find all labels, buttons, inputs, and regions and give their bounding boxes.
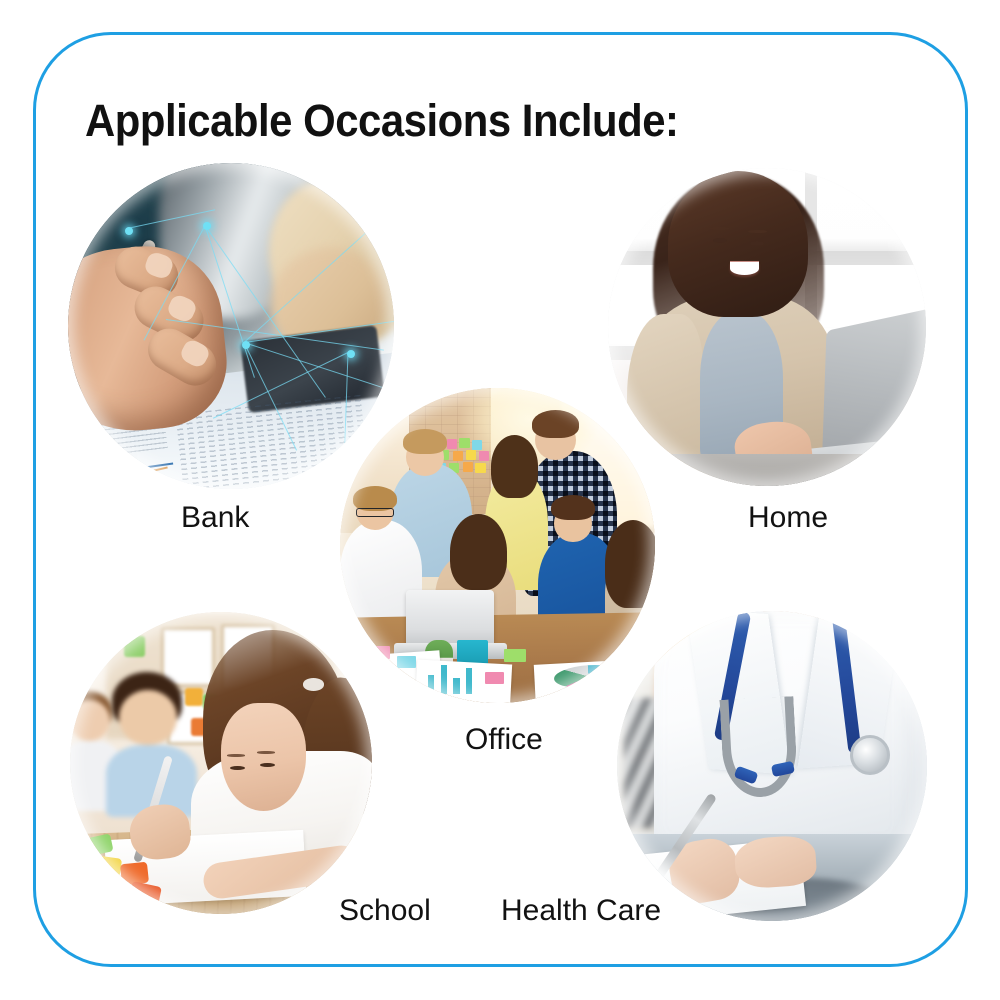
page-title: Applicable Occasions Include:: [85, 95, 679, 147]
occasion-image-health-care: [617, 611, 927, 921]
office-scene: [340, 388, 655, 703]
school-scene: [70, 612, 372, 914]
occasion-label-home: Home: [748, 501, 828, 535]
office-hair-yellow: [491, 435, 538, 498]
occasion-image-school: [70, 612, 372, 914]
occasion-label-bank: Bank: [181, 501, 249, 535]
office-table-note-1: [372, 646, 391, 659]
health-care-scene: [617, 611, 927, 921]
occasion-image-home: [608, 168, 926, 486]
office-chart-bar-1: [428, 675, 434, 694]
office-table-note-2: [397, 656, 416, 669]
office-chart-bar-4: [466, 668, 472, 693]
office-hair-turtleneck: [551, 495, 595, 520]
office-chart-bar-3: [453, 678, 459, 694]
health-stethoscope-chestpiece: [850, 735, 890, 775]
school-child-background-near: [106, 672, 197, 817]
occasion-label-health-care: Health Care: [501, 894, 661, 928]
school-girl-eyebrow-left: [227, 754, 245, 757]
occasion-label-office: Office: [465, 723, 543, 757]
home-smile: [730, 262, 759, 275]
office-glasses-icon: [356, 508, 394, 517]
school-girl-face: [221, 703, 306, 812]
occasion-label-school: School: [339, 894, 431, 928]
office-hair-center-woman: [450, 514, 507, 590]
office-hair-checkered: [532, 410, 579, 438]
occasion-image-office: [340, 388, 655, 703]
home-scene: [608, 168, 926, 486]
office-table-note-4: [485, 672, 504, 685]
health-hand-resting: [733, 835, 817, 890]
home-desk: [608, 454, 926, 486]
office-table-note-3: [504, 649, 526, 662]
school-shelf-toy-4: [124, 636, 145, 657]
office-laptop: [406, 590, 494, 647]
school-hair-tie: [303, 678, 324, 690]
office-hair-blue: [403, 429, 447, 454]
office-hair-far-right: [605, 520, 655, 608]
home-hair-front: [668, 171, 808, 317]
school-letter-toy-yellow: [93, 855, 122, 877]
office-chart-bar-2: [441, 665, 447, 693]
school-girl-eyebrow-right: [257, 751, 275, 754]
